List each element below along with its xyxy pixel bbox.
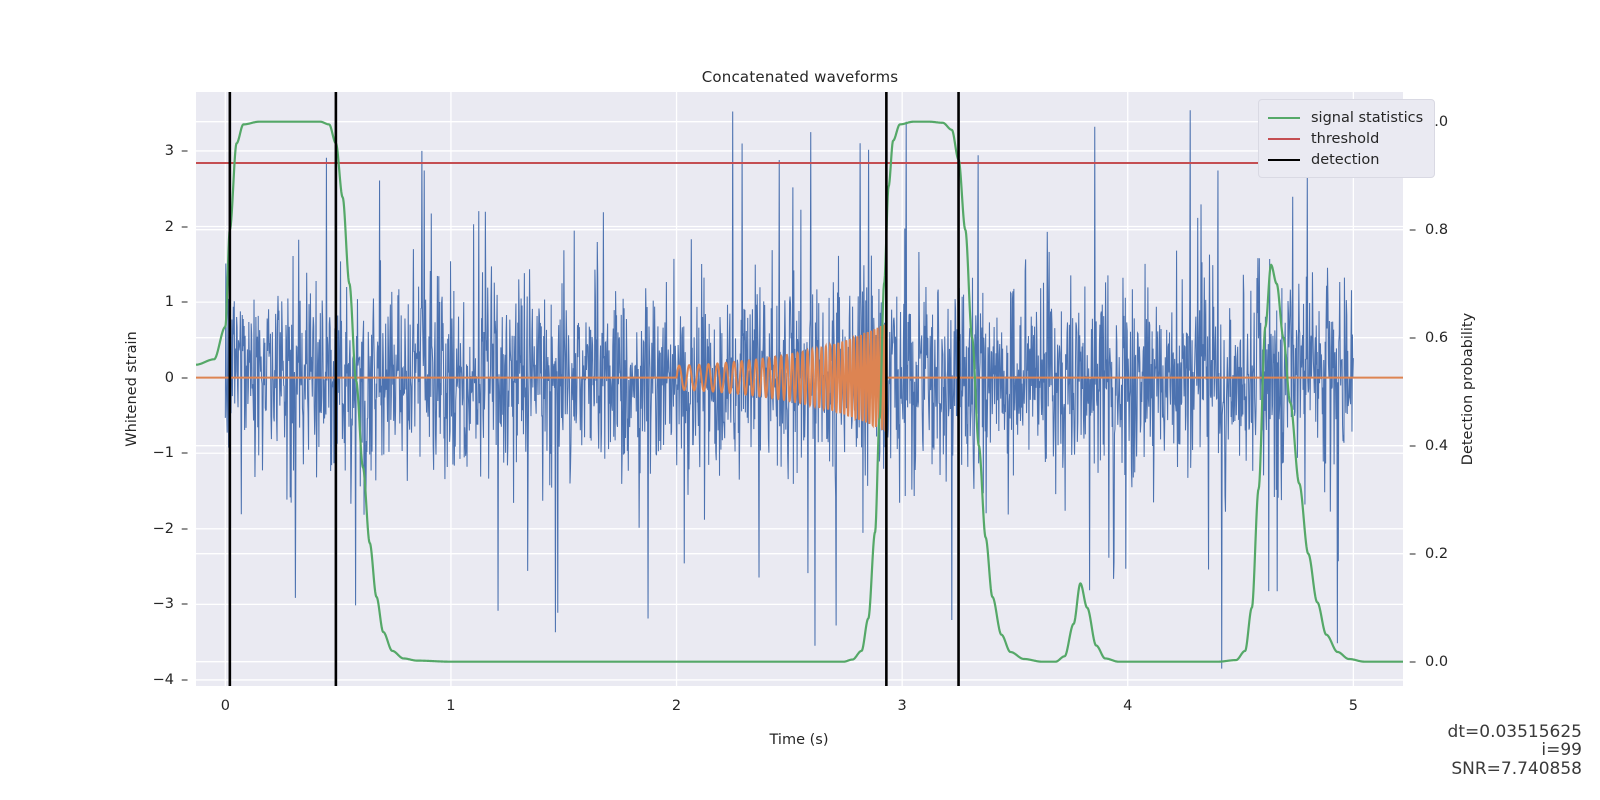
y-tick-left-0: 3 — [114, 143, 174, 159]
legend-item-detection[interactable]: detection — [1268, 149, 1423, 170]
y-tick-right-1: 0.8 — [1425, 222, 1448, 238]
y-tick-left-2: 1 — [114, 294, 174, 310]
y-axis-right-label: Detection probability — [1460, 313, 1476, 465]
x-tick-2: 2 — [672, 698, 681, 714]
page-title: Concatenated waveforms — [0, 68, 1600, 86]
y-tick-left-6: −3 — [114, 596, 174, 612]
legend-item-signal-statistics[interactable]: signal statistics — [1268, 107, 1423, 128]
y-tick-right-5: 0.0 — [1425, 654, 1448, 670]
y-tick-mark-left-4: – — [181, 445, 188, 461]
legend-swatch-threshold — [1268, 138, 1300, 140]
y-tick-mark-right-3: – — [1409, 438, 1416, 454]
legend-swatch-detection — [1268, 159, 1300, 161]
y-tick-mark-right-1: – — [1409, 222, 1416, 238]
y-tick-left-4: −1 — [114, 445, 174, 461]
y-tick-left-3: 0 — [114, 370, 174, 386]
y-tick-mark-right-2: – — [1409, 330, 1416, 346]
annotation-dt: dt=0.03515625 — [1448, 723, 1582, 741]
x-axis-label: Time (s) — [770, 732, 829, 748]
legend-item-threshold[interactable]: threshold — [1268, 128, 1423, 149]
legend-swatch-signal-statistics — [1268, 117, 1300, 119]
annotation-snr: SNR=7.740858 — [1448, 760, 1582, 778]
plot-area — [196, 92, 1403, 686]
figure-canvas: Concatenated waveforms 3–2–1–0–−1–−2–−3–… — [0, 0, 1600, 800]
y-tick-mark-right-4: – — [1409, 546, 1416, 562]
y-tick-left-1: 2 — [114, 219, 174, 235]
legend-label-detection: detection — [1311, 152, 1379, 168]
x-tick-0: 0 — [221, 698, 230, 714]
x-tick-1: 1 — [446, 698, 455, 714]
y-tick-left-7: −4 — [114, 672, 174, 688]
y-tick-mark-left-5: – — [181, 521, 188, 537]
y-tick-mark-left-0: – — [181, 143, 188, 159]
x-tick-4: 4 — [1123, 698, 1132, 714]
data-layer — [196, 92, 1403, 686]
legend[interactable]: signal statistics threshold detection — [1258, 99, 1435, 178]
annotation-block: dt=0.03515625 i=99 SNR=7.740858 — [1448, 723, 1582, 778]
y-tick-mark-left-3: – — [181, 370, 188, 386]
y-tick-mark-left-1: – — [181, 219, 188, 235]
y-tick-right-4: 0.2 — [1425, 546, 1448, 562]
legend-label-threshold: threshold — [1311, 131, 1379, 147]
y-tick-mark-right-5: – — [1409, 654, 1416, 670]
x-tick-3: 3 — [898, 698, 907, 714]
y-tick-mark-left-7: – — [181, 672, 188, 688]
y-tick-right-2: 0.6 — [1425, 330, 1448, 346]
y-tick-right-3: 0.4 — [1425, 438, 1448, 454]
legend-label-signal-statistics: signal statistics — [1311, 110, 1423, 126]
y-axis-left-label: Whitened strain — [124, 331, 140, 446]
plot-canvas — [196, 92, 1403, 686]
x-tick-5: 5 — [1349, 698, 1358, 714]
y-tick-mark-left-2: – — [181, 294, 188, 310]
annotation-i: i=99 — [1448, 741, 1582, 759]
y-tick-mark-left-6: – — [181, 596, 188, 612]
y-tick-left-5: −2 — [114, 521, 174, 537]
